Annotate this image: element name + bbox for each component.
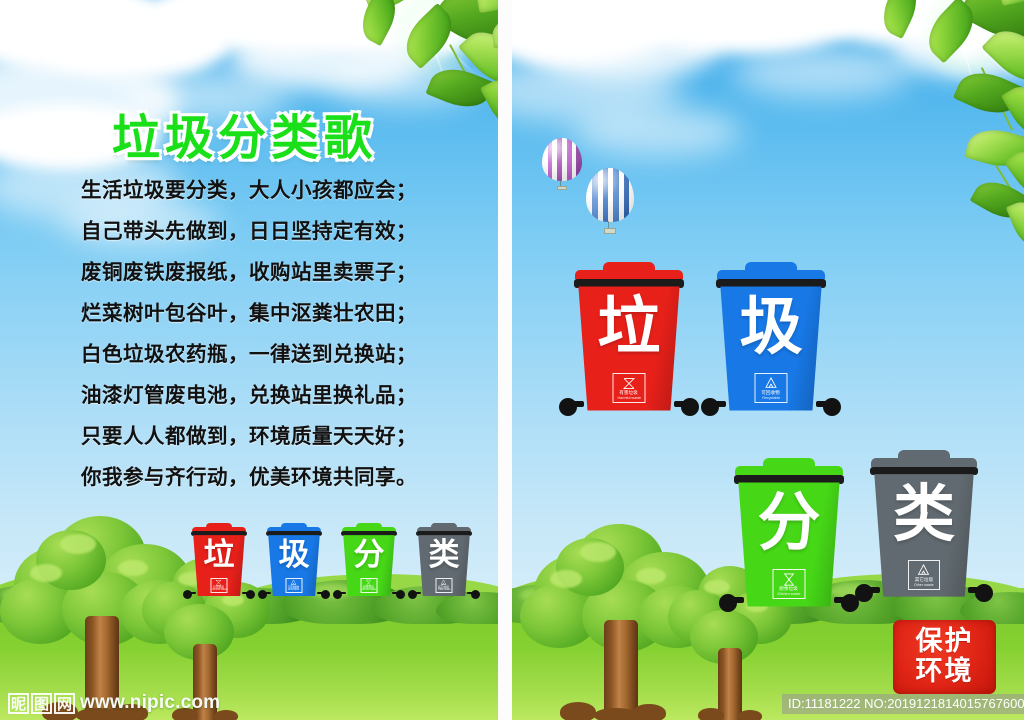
bin-glyph: 类 <box>418 539 470 572</box>
bin-lid <box>735 466 843 475</box>
bin-glyph: 类 <box>874 481 973 546</box>
bin-body: 类其它垃圾Other waste <box>874 474 973 596</box>
bin-lid-seal <box>870 467 978 476</box>
bin-category-en: Harmful waste <box>617 397 641 401</box>
bin-category-en: Other waste <box>438 589 450 591</box>
recycling-song-poem: 生活垃圾要分类，大人小孩都应会； 自己带头先做到，日日坚持定有效； 废铜废铁废报… <box>0 170 498 498</box>
bin-lid-seal <box>716 279 826 288</box>
poem-line: 你我参与齐行动，优美环境共同享。 <box>0 457 498 498</box>
bin-wheel-left <box>408 590 417 599</box>
protect-environment-seal: 保护 环境 <box>893 620 996 694</box>
image-id-watermark: ID:11181222 NO:20191218140157676000 <box>782 694 1024 714</box>
bin-body: 垃有害垃圾Harmful waste <box>578 286 679 410</box>
trash-bin-recyclable-small: 圾可回收物Recyclable <box>266 523 322 601</box>
recycle-triangle-icon: 可回收物Recyclable <box>285 578 302 593</box>
right-poster-panel: 混放是垃圾 分类成资源 垃有害垃圾Harmful waste 圾可回收物Recy… <box>512 0 1024 720</box>
bin-handle <box>603 262 656 270</box>
poem-line: 自己带头先做到，日日坚持定有效； <box>0 211 498 252</box>
bin-glyph: 分 <box>343 539 395 572</box>
left-panel-title: 垃圾分类歌 <box>112 98 377 168</box>
poem-line: 白色垃圾农药瓶，一律送到兑换站； <box>0 334 498 375</box>
trash-bin-kitchen-large: 分厨余垃圾Kitchen waste <box>734 458 844 616</box>
bin-body: 分厨余垃圾Kitchen waste <box>738 482 839 606</box>
bin-wheel-left <box>183 590 192 599</box>
bin-category-en: Kitchen waste <box>778 593 801 597</box>
bin-wheel-left <box>719 594 737 612</box>
poem-line: 废铜废铁废报纸，收购站里卖票子； <box>0 252 498 293</box>
trash-bin-harmful-large: 垃有害垃圾Harmful waste <box>574 262 684 420</box>
bin-category-en: Recyclable <box>762 397 780 401</box>
bin-category-en: Other waste <box>914 583 934 587</box>
bin-body: 圾可回收物Recyclable <box>720 286 821 410</box>
seal-line: 环境 <box>916 657 974 687</box>
poem-line: 只要人人都做到，环境质量天天好； <box>0 416 498 457</box>
bin-lid-seal <box>416 531 472 535</box>
bin-category-en: Harmful waste <box>212 589 227 591</box>
purple-balloon <box>542 138 582 190</box>
bin-wheel-left <box>559 398 577 416</box>
nipic-logo-cn: 昵 图 网 <box>8 693 75 714</box>
bin-wheel-right <box>246 590 255 599</box>
bin-glyph: 垃 <box>578 294 679 360</box>
left-poster-panel: 垃圾分类歌 生活垃圾要分类，大人小孩都应会； 自己带头先做到，日日坚持定有效； … <box>0 0 498 720</box>
balloon-envelope <box>542 138 582 181</box>
bin-body: 垃有害垃圾Harmful waste <box>193 535 245 596</box>
bin-lid <box>575 270 683 279</box>
bin-lid-seal <box>341 531 397 535</box>
trash-bin-other-large: 类其它垃圾Other waste <box>870 450 978 606</box>
poem-line: 油漆灯管废电池，兑换站里换礼品； <box>0 375 498 416</box>
bin-wheel-left <box>333 590 342 599</box>
balloon-envelope <box>586 168 634 222</box>
trash-bin-recyclable-large: 圾可回收物Recyclable <box>716 262 826 420</box>
bin-lid <box>717 270 825 279</box>
bin-body: 类其它垃圾Other waste <box>418 535 470 596</box>
wm-char: 网 <box>54 693 75 714</box>
bin-wheel-right <box>471 590 480 599</box>
bin-lid <box>871 458 977 467</box>
bin-body: 分厨余垃圾Kitchen waste <box>343 535 395 596</box>
bin-wheel-right <box>396 590 405 599</box>
kitchen-waste-icon: 厨余垃圾Kitchen waste <box>772 569 805 599</box>
hazard-x-icon: 有害垃圾Harmful waste <box>612 373 645 403</box>
poster-canvas: 垃圾分类歌 生活垃圾要分类，大人小孩都应会； 自己带头先做到，日日坚持定有效； … <box>0 0 1024 720</box>
wm-char: 昵 <box>8 693 29 714</box>
panel-divider <box>498 0 512 720</box>
bin-lid-seal <box>734 475 844 484</box>
trash-bin-other-small: 类其它垃圾Other waste <box>416 523 472 601</box>
bin-handle <box>898 450 950 458</box>
trash-bin-kitchen-small: 分厨余垃圾Kitchen waste <box>341 523 397 601</box>
other-waste-icon: 其它垃圾Other waste <box>435 578 452 593</box>
bin-lid-seal <box>574 279 684 288</box>
bin-category-en: Kitchen waste <box>362 589 376 591</box>
nipic-url: www.nipic.com <box>80 692 220 714</box>
seal-line: 保护 <box>916 627 974 657</box>
bin-glyph: 分 <box>738 490 839 556</box>
bin-wheel-right <box>321 590 330 599</box>
bin-wheel-left <box>701 398 719 416</box>
trash-bin-harmful-small: 垃有害垃圾Harmful waste <box>191 523 247 601</box>
bin-wheel-left <box>258 590 267 599</box>
other-waste-icon: 其它垃圾Other waste <box>908 560 940 590</box>
hazard-x-icon: 有害垃圾Harmful waste <box>210 578 227 593</box>
bin-handle <box>763 458 816 466</box>
wm-char: 图 <box>31 693 52 714</box>
bin-wheel-left <box>855 584 873 602</box>
bin-glyph: 垃 <box>193 539 245 572</box>
bin-lid-seal <box>191 531 247 535</box>
bin-category-en: Recyclable <box>288 589 299 591</box>
blue-balloon <box>586 168 634 234</box>
recycle-triangle-icon: 可回收物Recyclable <box>754 373 787 403</box>
nipic-watermark: 昵 图 网 www.nipic.com <box>8 692 220 714</box>
bin-lid-seal <box>266 531 322 535</box>
poem-line: 烂菜树叶包谷叶，集中沤粪壮农田； <box>0 293 498 334</box>
bin-glyph: 圾 <box>268 539 320 572</box>
bin-handle <box>745 262 798 270</box>
poem-line: 生活垃圾要分类，大人小孩都应会； <box>0 170 498 211</box>
bin-body: 圾可回收物Recyclable <box>268 535 320 596</box>
kitchen-waste-icon: 厨余垃圾Kitchen waste <box>360 578 377 593</box>
bin-glyph: 圾 <box>720 294 821 360</box>
